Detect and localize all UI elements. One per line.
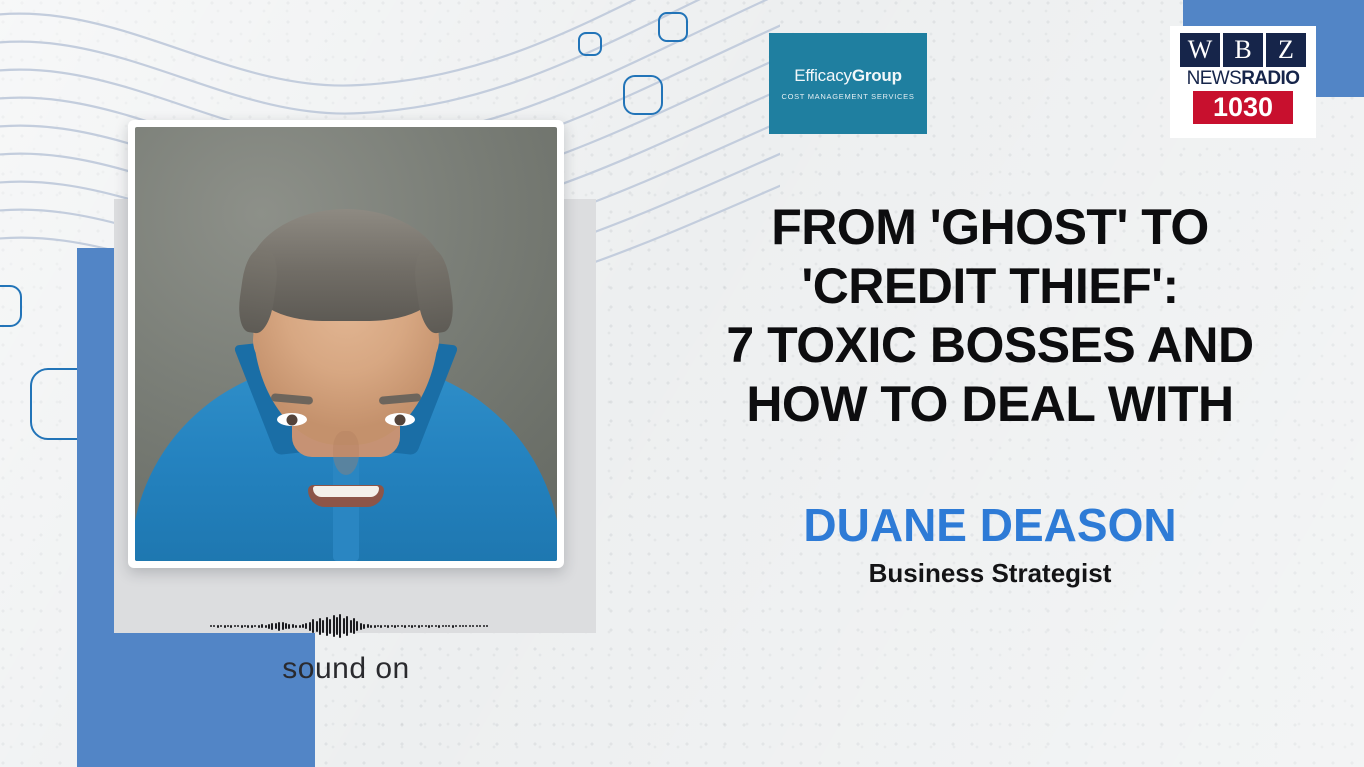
slide-canvas: sound on EfficacyGroup COST MANAGEMENT S… [0,0,1364,767]
photo-eye-left [385,413,415,426]
speaker-photo [135,127,557,561]
audio-waveform [210,612,488,640]
waveform-bar [251,625,253,628]
waveform-bar [442,625,444,627]
waveform-bar [258,625,260,628]
waveform-bar [455,625,457,627]
waveform-bar [268,624,270,629]
waveform-bar [367,624,369,628]
waveform-bar [435,625,437,627]
waveform-bar [220,625,222,627]
waveform-bar [421,625,423,627]
waveform-bar [339,614,341,638]
waveform-bar [411,625,413,628]
waveform-bar [234,625,236,627]
waveform-bar [394,625,396,628]
wbz-letter-w: W [1180,33,1220,67]
waveform-bar [472,625,474,627]
efficacy-logo-tagline: COST MANAGEMENT SERVICES [781,92,914,101]
waveform-bar [448,625,450,627]
waveform-bar [333,615,335,637]
waveform-bar [370,625,372,628]
headline-line-4: HOW TO DEAL WITH [700,375,1280,434]
waveform-bar [486,625,488,627]
photo-eyebrow-right [271,393,314,405]
waveform-bar [309,622,311,631]
waveform-bar [465,625,467,627]
waveform-bar [295,625,297,628]
waveform-bar [384,625,386,627]
headline-line-3: 7 TOXIC BOSSES AND [700,316,1280,375]
waveform-bar [278,622,280,631]
waveform-bar [377,625,379,627]
waveform-bar [459,625,461,627]
waveform-bar [244,625,246,627]
waveform-bar [316,621,318,632]
waveform-bar [271,623,273,630]
waveform-bar [265,625,267,628]
waveform-bar [353,618,355,634]
waveform-bar [319,618,321,635]
waveform-bar [261,624,263,628]
waveform-bar [288,624,290,629]
rounded-square-decoration-1 [578,32,602,56]
wbz-letter-b: B [1223,33,1263,67]
waveform-bar [237,625,239,627]
waveform-bar [404,625,406,628]
waveform-bar [360,623,362,630]
waveform-bar [299,625,301,628]
efficacy-logo-name: EfficacyGroup [794,66,902,86]
wbz-newsradio-logo: W B Z NEWSRADIO 1030 [1170,26,1316,138]
waveform-bar [483,625,485,627]
waveform-bar [350,620,352,633]
waveform-bar [213,625,215,627]
waveform-bar [414,625,416,627]
waveform-bar [292,624,294,628]
waveform-bar [356,621,358,631]
waveform-bar [230,625,232,628]
waveform-bar [391,625,393,627]
waveform-bar [227,625,229,627]
efficacy-group-logo: EfficacyGroup COST MANAGEMENT SERVICES [769,33,927,134]
efficacy-logo-name-light: Efficacy [794,66,852,85]
waveform-bar [428,625,430,628]
waveform-bar [343,618,345,634]
waveform-bar [305,623,307,629]
waveform-bar [210,625,212,627]
waveform-bar [418,625,420,628]
speaker-name: DUANE DEASON [700,498,1280,552]
speaker-role: Business Strategist [700,558,1280,589]
waveform-bar [374,625,376,628]
waveform-bar [326,617,328,636]
waveform-bar [282,622,284,630]
waveform-bar [247,625,249,628]
waveform-bar [476,625,478,627]
waveform-bar [408,625,410,627]
waveform-bar [322,620,324,633]
sound-on-caption: sound on [128,652,564,686]
waveform-bar [380,625,382,628]
waveform-bar [401,625,403,627]
waveform-bar [302,624,304,628]
wbz-frequency-badge: 1030 [1193,91,1293,124]
photo-eyebrow-left [379,393,422,405]
waveform-bar [329,619,331,634]
photo-nose [333,431,359,475]
waveform-bar [445,625,447,627]
waveform-bar [285,623,287,629]
wbz-letter-z: Z [1266,33,1306,67]
waveform-bar [479,625,481,627]
headline-line-2: 'CREDIT THIEF': [700,257,1280,316]
wbz-radio-text: RADIO [1241,68,1299,89]
waveform-bar [224,625,226,628]
headline-line-1: FROM 'GHOST' TO [700,198,1280,257]
waveform-bar [275,623,277,629]
waveform-bar [397,625,399,627]
wbz-letter-boxes: W B Z [1180,33,1306,67]
photo-mouth [308,485,384,507]
photo-eye-right [277,413,307,426]
waveform-bar [431,625,433,627]
waveform-bar [336,617,338,635]
waveform-bar [425,625,427,627]
waveform-bar [462,625,464,627]
photo-teeth [313,486,379,497]
waveform-bar [346,616,348,636]
waveform-bar [312,619,314,633]
waveform-bar [254,625,256,627]
waveform-bar [452,625,454,628]
waveform-bar [387,625,389,628]
wbz-newsradio-wordmark: NEWSRADIO [1187,69,1300,89]
waveform-bar [438,625,440,628]
waveform-bar [241,625,243,628]
speaker-photo-frame [128,120,564,568]
waveform-bar [363,624,365,629]
wbz-news-text: NEWS [1187,68,1242,89]
efficacy-logo-name-bold: Group [852,66,902,85]
rounded-square-decoration-5 [0,285,22,327]
waveform-bar [217,625,219,628]
rounded-square-decoration-3 [623,75,663,115]
headline: FROM 'GHOST' TO 'CREDIT THIEF': 7 TOXIC … [700,198,1280,434]
rounded-square-decoration-2 [658,12,688,42]
waveform-bar [469,625,471,627]
photo-hair [247,209,445,321]
